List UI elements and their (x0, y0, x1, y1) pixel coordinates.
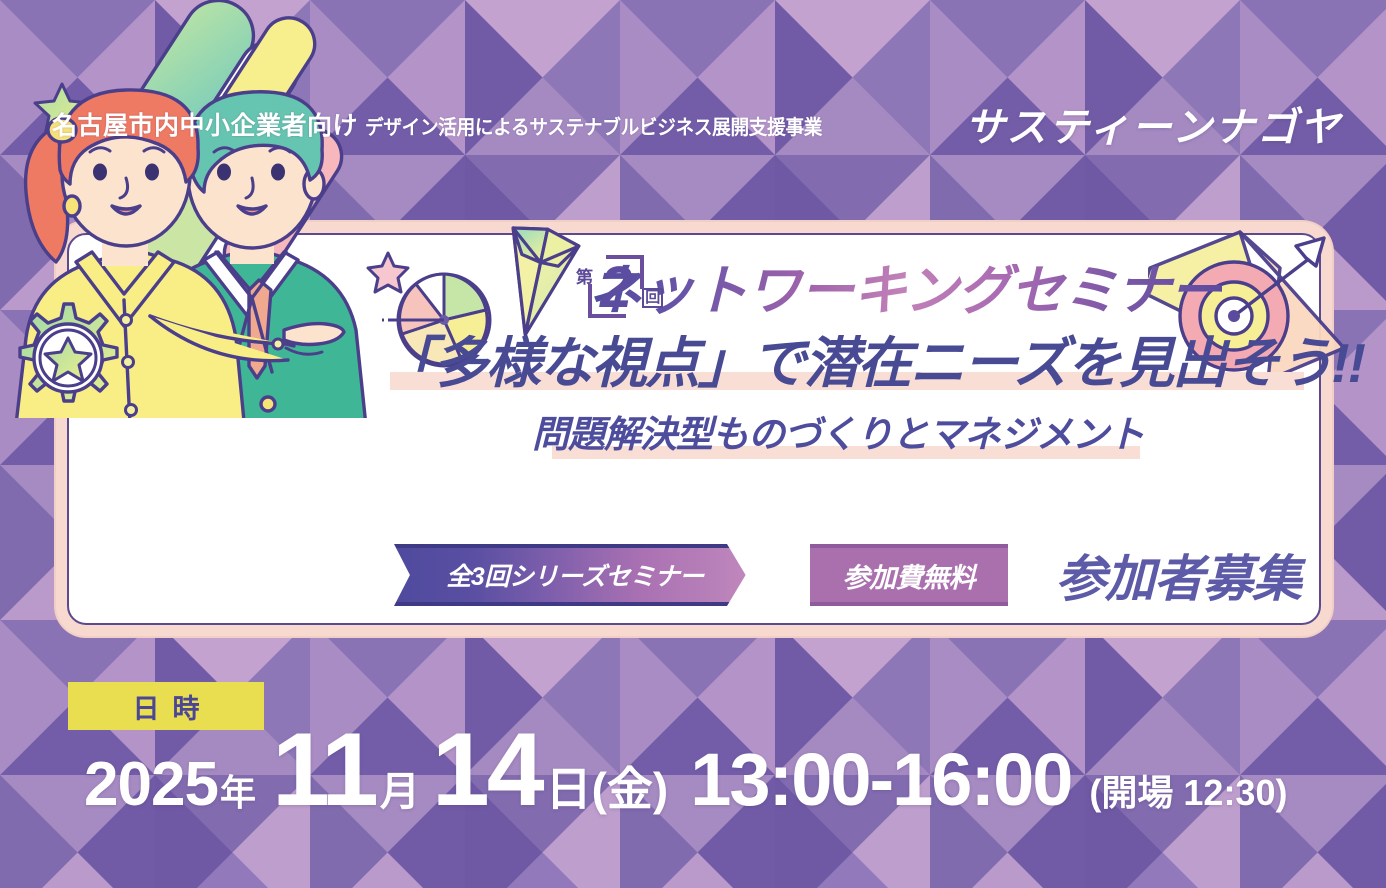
date-month: 11 (272, 726, 376, 815)
kicker-text: 名古屋市内中小企業者向け デザイン活用によるサステナブルビジネス展開支援事業 (52, 106, 857, 142)
date-dayofweek: (金) (592, 753, 669, 819)
edition-number-box: 2 (594, 261, 640, 314)
seminar-title-row: 第 2 回 ネットワーキングセミナー (380, 240, 1320, 318)
series-ribbon-label: 全3回シリーズセミナー (446, 557, 703, 593)
badges-row: 全3回シリーズセミナー 参加費無料 参加者募集 (394, 540, 1314, 610)
date-year: 2025 (84, 749, 218, 820)
date-year-unit: 年 (220, 764, 256, 816)
date-day-unit: 日 (546, 753, 592, 819)
headline: 「多様な視点」で潜在ニーズを見出そう!! (380, 334, 1296, 392)
brand-logo: サスティーンナゴヤ (965, 95, 1342, 153)
free-badge-label: 参加費無料 (843, 556, 976, 595)
title-area: 第 2 回 ネットワーキングセミナー 「多様な視点」で潜在ニーズを見出そう!! … (380, 240, 1320, 630)
edition-suffix: 回 (642, 288, 663, 308)
date-time-range: 13:00-16:00 (690, 737, 1071, 822)
poster-root: 名古屋市内中小企業者向け デザイン活用によるサステナブルビジネス展開支援事業 サ… (0, 0, 1386, 888)
date-month-unit: 月 (380, 759, 420, 817)
date-open-time: (開場 12:30) (1089, 764, 1287, 816)
kicker-strong: 名古屋市内中小企業者向け (52, 106, 358, 142)
date-line: 2025 年 11 月 14 日 (金) 13:00-16:00 (開場 12:… (84, 726, 1287, 822)
subline-wrapper: 問題解決型ものづくりとマネジメント (380, 404, 1320, 458)
seminar-name: ネットワーキングセミナー (588, 264, 1222, 318)
kicker-subtitle: デザイン活用によるサステナブルビジネス展開支援事業 (365, 111, 822, 140)
date-day: 14 (432, 726, 542, 815)
headline-wrapper: 「多様な視点」で潜在ニーズを見出そう!! (380, 334, 1320, 392)
series-ribbon-badge: 全3回シリーズセミナー (394, 544, 756, 606)
subline: 問題解決型ものづくりとマネジメント (380, 404, 1296, 458)
header-bar: 名古屋市内中小企業者向け デザイン活用によるサステナブルビジネス展開支援事業 サ… (0, 96, 1386, 152)
edition-badge: 第 2 回 (576, 252, 663, 314)
recruit-text: 参加者募集 (1056, 539, 1301, 611)
datetime-label: 日時 (68, 682, 264, 730)
date-block: 日時 2025 年 11 月 14 日 (金) 13:00-16:00 (開場 … (0, 668, 1386, 838)
free-badge: 参加費無料 (810, 544, 1008, 606)
edition-number: 2 (600, 261, 632, 314)
